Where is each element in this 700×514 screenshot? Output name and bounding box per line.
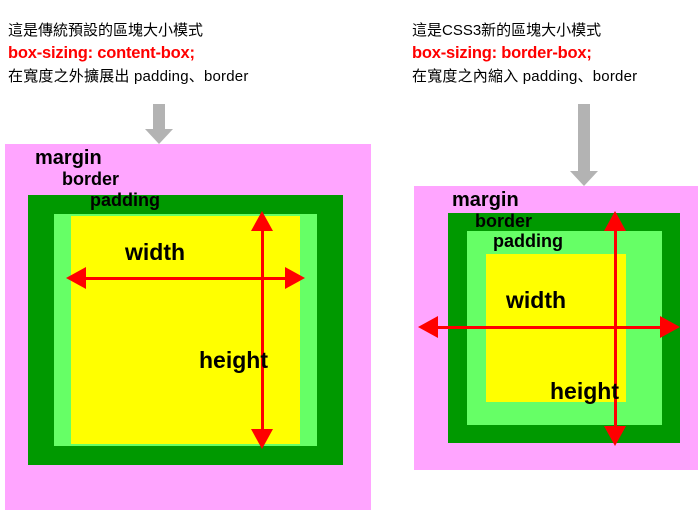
box-model-diagram-border-box: margin border padding width height bbox=[414, 186, 698, 470]
border-label: border bbox=[475, 212, 532, 230]
caption-line-1: 這是傳統預設的區塊大小模式 bbox=[8, 20, 249, 42]
width-label: width bbox=[125, 241, 185, 264]
height-measure-arrow bbox=[603, 211, 627, 446]
arrow-line bbox=[429, 326, 669, 329]
arrow-head-top bbox=[604, 211, 626, 231]
padding-label: padding bbox=[90, 191, 160, 209]
arrow-line bbox=[261, 222, 264, 438]
arrow-head-right bbox=[285, 267, 305, 289]
height-measure-arrow bbox=[250, 211, 274, 449]
box-model-diagram-content-box: margin border padding width height bbox=[5, 144, 371, 510]
arrow-head-left bbox=[66, 267, 86, 289]
arrow-head-left bbox=[418, 316, 438, 338]
arrow-head-top bbox=[251, 211, 273, 231]
height-label: height bbox=[550, 380, 619, 403]
arrow-head-bottom bbox=[251, 429, 273, 449]
caption-line-3: 在寬度之內縮入 padding、border bbox=[412, 66, 637, 88]
caption-line-3: 在寬度之外擴展出 padding、border bbox=[8, 66, 249, 88]
down-arrow-icon bbox=[569, 104, 599, 186]
caption-code-declaration: box-sizing: border-box; bbox=[412, 42, 637, 66]
arrow-shaft bbox=[153, 104, 165, 130]
arrow-head-right bbox=[660, 316, 680, 338]
arrow-shaft bbox=[578, 104, 590, 172]
arrow-head-bottom bbox=[604, 426, 626, 446]
margin-label: margin bbox=[452, 190, 519, 210]
width-label: width bbox=[506, 289, 566, 312]
width-measure-arrow bbox=[418, 315, 680, 339]
caption-line-1: 這是CSS3新的區塊大小模式 bbox=[412, 20, 637, 42]
border-label: border bbox=[62, 170, 119, 188]
height-label: height bbox=[199, 349, 268, 372]
caption-border-box: 這是CSS3新的區塊大小模式 box-sizing: border-box; 在… bbox=[412, 20, 637, 87]
arrow-head bbox=[570, 171, 598, 186]
caption-code-declaration: box-sizing: content-box; bbox=[8, 42, 249, 66]
margin-label: margin bbox=[35, 148, 102, 168]
arrow-head bbox=[145, 129, 173, 144]
caption-content-box: 這是傳統預設的區塊大小模式 box-sizing: content-box; 在… bbox=[8, 20, 249, 87]
down-arrow-icon bbox=[144, 104, 174, 144]
padding-label: padding bbox=[493, 232, 563, 250]
